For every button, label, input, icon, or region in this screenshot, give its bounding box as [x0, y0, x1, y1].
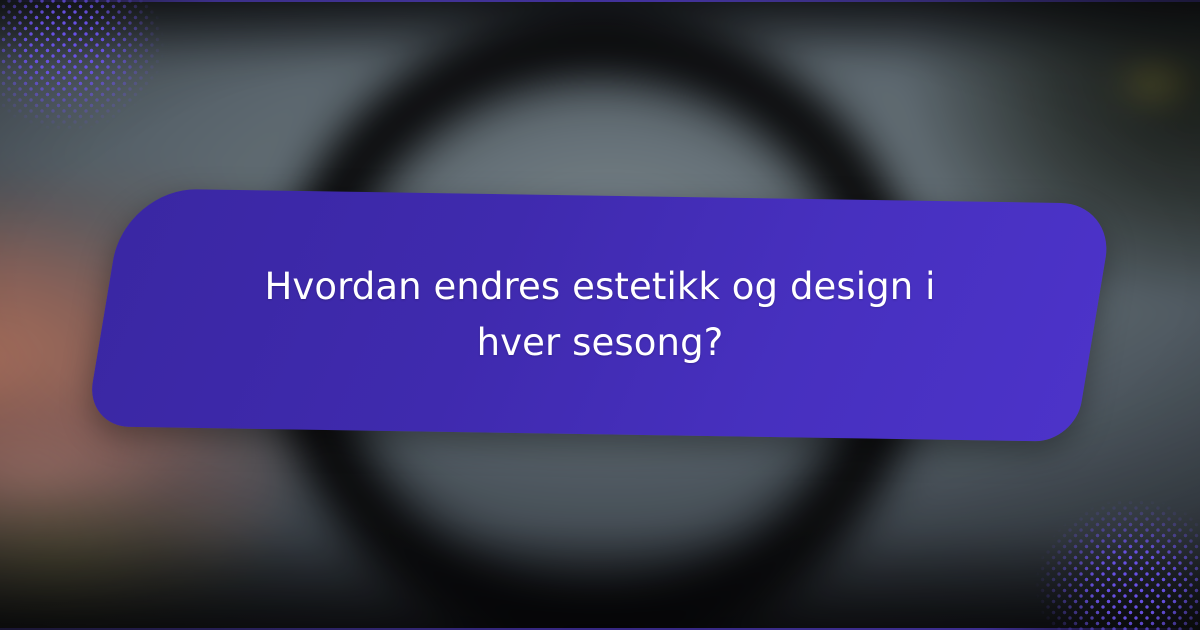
og-card-canvas: Hvordan endres estetikk og design i hver… [0, 0, 1200, 630]
headline-text: Hvordan endres estetikk og design i hver… [230, 259, 970, 371]
headline-card-text-area: Hvordan endres estetikk og design i hver… [104, 196, 1096, 434]
edge-accent-line-top [0, 0, 1200, 2]
